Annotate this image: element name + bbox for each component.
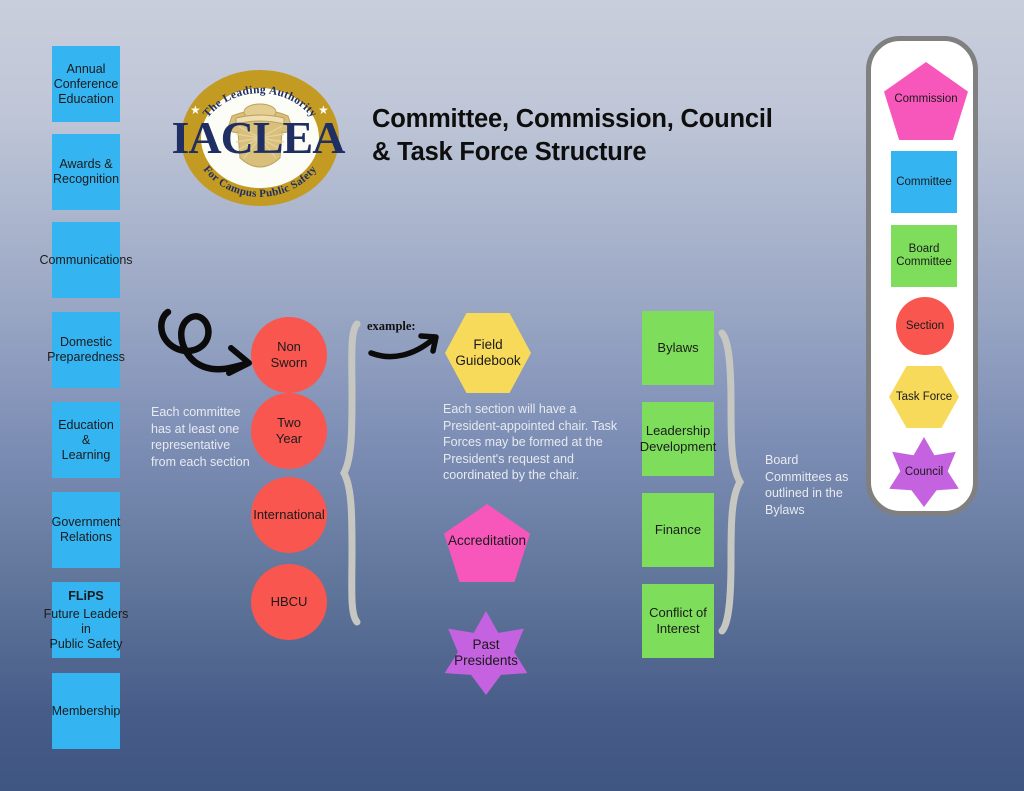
legend-item-commission[interactable]: Commission bbox=[884, 62, 968, 140]
committee-box-annual-conference-education[interactable]: Annual Conference Education bbox=[52, 46, 120, 122]
board-committee-box-bylaws[interactable]: Bylaws bbox=[642, 311, 714, 385]
iaclea-logo-svg: The Leading Authority For Campus Public … bbox=[170, 68, 350, 208]
board-committee-label: Bylaws bbox=[657, 340, 698, 356]
section-circle-non-sworn[interactable]: Non Sworn bbox=[251, 317, 327, 393]
pentagon-shape bbox=[884, 62, 968, 140]
board-note: Board Committees as outlined in the Byla… bbox=[765, 452, 861, 518]
brace-board-committees bbox=[722, 333, 740, 631]
council-past-presidents[interactable]: Past Presidents bbox=[442, 611, 530, 695]
committee-label: Education & Learning bbox=[54, 418, 118, 463]
committee-box-flips[interactable]: FLiPS Future Leaders in Public Safety bbox=[52, 582, 120, 658]
section-circle-hbcu[interactable]: HBCU bbox=[251, 564, 327, 640]
board-committee-box-leadership-development[interactable]: Leadership Development bbox=[642, 402, 714, 476]
legend-item-council[interactable]: Council bbox=[887, 437, 961, 507]
star-shape bbox=[442, 611, 530, 695]
legend-panel: Commission Committee Board Committee Sec… bbox=[866, 36, 978, 516]
brace-sections bbox=[344, 324, 357, 622]
section-circle-two-year[interactable]: Two Year bbox=[251, 393, 327, 469]
committee-box-communications[interactable]: Communications bbox=[52, 222, 120, 298]
board-committee-label: Conflict of Interest bbox=[644, 605, 712, 637]
committee-label: Domestic Preparedness bbox=[47, 335, 125, 365]
section-label: HBCU bbox=[271, 594, 308, 610]
committee-label: Communications bbox=[39, 253, 132, 268]
board-committee-label: Leadership Development bbox=[640, 423, 717, 455]
page-title: Committee, Commission, Council & Task Fo… bbox=[372, 103, 852, 169]
committee-label: Awards & Recognition bbox=[53, 157, 119, 187]
example-label: example: bbox=[367, 319, 416, 334]
committee-label: FLiPS bbox=[68, 589, 103, 604]
diagram-canvas: The Leading Authority For Campus Public … bbox=[0, 0, 1024, 791]
committee-box-government-relations[interactable]: Government Relations bbox=[52, 492, 120, 568]
committee-label: Annual Conference Education bbox=[54, 62, 119, 107]
section-label: International bbox=[251, 507, 327, 523]
section-circle-international[interactable]: International bbox=[251, 477, 327, 553]
commission-accreditation[interactable]: Accreditation bbox=[444, 504, 530, 582]
legend-item-committee[interactable]: Committee bbox=[891, 151, 957, 213]
hexagon-shape bbox=[889, 366, 959, 428]
legend-label: Board Committee bbox=[891, 243, 957, 269]
legend-item-board-committee[interactable]: Board Committee bbox=[891, 225, 957, 287]
iaclea-logo: The Leading Authority For Campus Public … bbox=[170, 68, 350, 208]
board-committee-label: Finance bbox=[655, 522, 701, 538]
committee-label: Membership bbox=[52, 704, 121, 719]
legend-item-section[interactable]: Section bbox=[896, 297, 954, 355]
logo-acronym: IACLEA bbox=[172, 112, 346, 163]
committee-box-awards-recognition[interactable]: Awards & Recognition bbox=[52, 134, 120, 210]
pentagon-shape bbox=[444, 504, 530, 582]
committee-box-domestic-preparedness[interactable]: Domestic Preparedness bbox=[52, 312, 120, 388]
committee-label: Government Relations bbox=[52, 515, 121, 545]
committee-box-membership[interactable]: Membership bbox=[52, 673, 120, 749]
curly-loop-arrow-icon bbox=[161, 312, 249, 373]
example-arrow-icon bbox=[371, 336, 436, 357]
board-committee-box-finance[interactable]: Finance bbox=[642, 493, 714, 567]
committee-sublabel: Future Leaders in Public Safety bbox=[41, 607, 131, 652]
committee-box-education-learning[interactable]: Education & Learning bbox=[52, 402, 120, 478]
legend-label: Section bbox=[906, 320, 944, 333]
section-note: Each committee has at least one represen… bbox=[151, 404, 261, 470]
task-force-field-guidebook[interactable]: Field Guidebook bbox=[445, 313, 531, 393]
legend-label: Committee bbox=[891, 176, 957, 189]
legend-item-task-force[interactable]: Task Force bbox=[889, 366, 959, 428]
hexagon-shape bbox=[445, 313, 531, 393]
example-note: Each section will have a President-appoi… bbox=[443, 401, 625, 484]
star-shape bbox=[887, 437, 961, 507]
board-committee-box-conflict-of-interest[interactable]: Conflict of Interest bbox=[642, 584, 714, 658]
section-label: Non Sworn bbox=[271, 339, 308, 371]
section-label: Two Year bbox=[276, 415, 302, 447]
